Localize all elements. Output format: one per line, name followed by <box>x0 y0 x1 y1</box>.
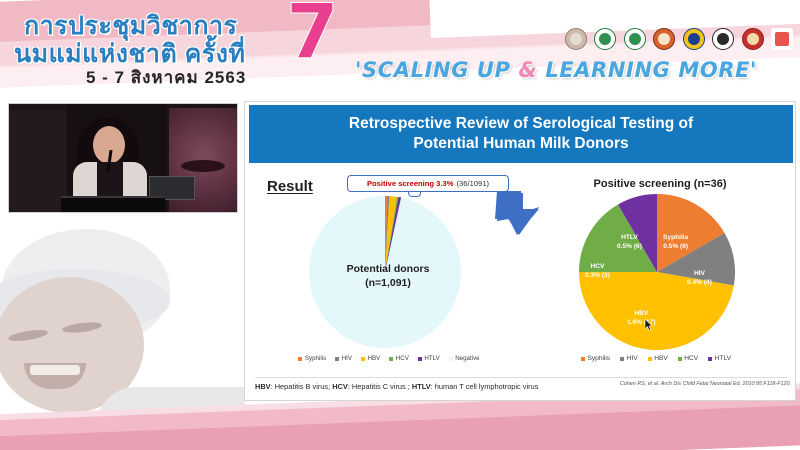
legend-label-hbv-right: HBV <box>654 355 668 362</box>
legend-label-htlv: HTLV <box>424 355 439 362</box>
blue-arrow-icon <box>493 187 545 241</box>
video-wall-panel-left <box>9 110 67 213</box>
slice-label-syphilis-name: Syphilis <box>663 234 688 243</box>
legend-swatch-hcv <box>389 357 393 361</box>
legend-item-hbv-right: HBV <box>648 355 668 362</box>
conference-date-thai: 5 - 7 สิงหาคม 2563 <box>86 64 246 91</box>
legend-potential-donors: Syphilis HIV HBV HCV HTLV Negative <box>271 355 507 362</box>
legend-item-htlv: HTLV <box>418 355 440 362</box>
slice-label-htlv: HTLV 0.5% (6) <box>617 234 642 251</box>
legend-label-hiv-right: HIV <box>627 355 638 362</box>
legend-label-syphilis: Syphilis <box>305 355 326 362</box>
logo-black-crest <box>712 28 734 50</box>
legend-swatch-hbv-right <box>648 357 652 361</box>
chart-positive-screening-title: Positive screening (n=36) <box>545 178 775 190</box>
result-heading: Result <box>267 178 313 195</box>
legend-swatch-negative <box>449 357 453 361</box>
legend-item-hcv: HCV <box>389 355 409 362</box>
logo-thai-royal-seal <box>565 28 587 50</box>
presentation-slide: Retrospective Review of Serological Test… <box>244 101 796 401</box>
footnote-hbv-key: HBV <box>255 382 271 391</box>
footnote-hbv-val: : Hepatitis B virus; <box>271 382 333 391</box>
child-teeth <box>30 365 80 375</box>
slide-title-line-1: Retrospective Review of Serological Test… <box>349 114 693 134</box>
legend-item-hiv-right: HIV <box>620 355 638 362</box>
slice-label-hcv-name: HCV <box>585 263 610 272</box>
chart-potential-donors: Potential donors (n=1,091) <box>273 196 503 348</box>
legend-label-hcv: HCV <box>396 355 409 362</box>
legend-swatch-syphilis <box>298 357 302 361</box>
legend-item-htlv-right: HTLV <box>708 355 731 362</box>
logo-green-medical-2 <box>624 28 646 50</box>
legend-swatch-syphilis-right <box>581 357 585 361</box>
legend-item-negative: Negative <box>449 355 480 362</box>
slice-label-hiv-value: 0.4% (4) <box>687 279 712 288</box>
footnote-hcv-val: : Hepatitis C virus ; <box>348 382 412 391</box>
footnote-htlv-key: HTLV <box>412 382 431 391</box>
slice-label-htlv-name: HTLV <box>617 234 642 243</box>
legend-swatch-hbv <box>361 357 365 361</box>
slice-label-hiv: HIV 0.4% (4) <box>687 270 712 287</box>
sponsor-logo-row <box>565 24 793 54</box>
tagline-part-1: 'SCALING UP <box>355 58 519 82</box>
conference-header-banner: การประชุมวิชาการ นมแม่แห่งชาติ ครั้งที่ … <box>0 0 800 95</box>
slice-label-hcv-value: 0.3% (3) <box>585 272 610 281</box>
legend-label-negative: Negative <box>455 355 479 362</box>
chart-positive-screening: Syphilis 0.5% (6) HIV 0.4% (4) HBV 1.6% … <box>571 194 747 350</box>
positive-screening-callout: Positive screening 3.3% (36/1091) <box>347 175 509 192</box>
slice-label-hiv-name: HIV <box>687 270 712 279</box>
legend-label-syphilis-right: Syphilis <box>587 355 610 362</box>
logo-orange-crest <box>653 28 675 50</box>
legend-swatch-hcv-right <box>678 357 682 361</box>
slide-title: Retrospective Review of Serological Test… <box>249 105 793 163</box>
conference-edition-number: 7 <box>286 0 339 70</box>
legend-positive-screening: Syphilis HIV HBV HCV HTLV <box>551 355 761 362</box>
legend-label-hcv-right: HCV <box>684 355 698 362</box>
logo-green-medical-1 <box>594 28 616 50</box>
legend-swatch-htlv-right <box>708 357 712 361</box>
legend-swatch-hiv-right <box>620 357 624 361</box>
slice-label-syphilis: Syphilis 0.5% (6) <box>663 234 688 251</box>
slice-label-syphilis-value: 0.5% (6) <box>663 243 688 252</box>
smiling-child-watermark <box>0 215 245 435</box>
source-citation: Cohen RS, et al. Arch Dis Child Fetal Ne… <box>620 381 791 387</box>
positive-screening-fraction: (36/1091) <box>457 179 490 188</box>
speaker-video-feed[interactable] <box>8 103 238 213</box>
pie-left-center-label: Potential donors (n=1,091) <box>273 262 503 290</box>
legend-label-hiv: HIV <box>342 355 352 362</box>
slice-label-htlv-value: 0.5% (6) <box>617 243 642 252</box>
legend-item-hbv: HBV <box>361 355 380 362</box>
legend-item-syphilis-right: Syphilis <box>581 355 610 362</box>
legend-swatch-hiv <box>335 357 339 361</box>
mouse-cursor-icon <box>645 318 654 330</box>
logo-red-crest <box>742 28 764 50</box>
tagline-part-2: LEARNING MORE' <box>537 58 757 82</box>
slice-label-hcv: HCV 0.3% (3) <box>585 263 610 280</box>
legend-item-syphilis: Syphilis <box>298 355 326 362</box>
screen: การประชุมวิชาการ นมแม่แห่งชาติ ครั้งที่ … <box>0 0 800 450</box>
pie-left-label-line-1: Potential donors <box>273 262 503 276</box>
positive-screening-percent: Positive screening 3.3% <box>367 179 454 188</box>
slide-title-line-2: Potential Human Milk Donors <box>413 134 628 154</box>
legend-label-htlv-right: HTLV <box>715 355 731 362</box>
abbreviation-key: HBV: Hepatitis B virus; HCV: Hepatitis C… <box>255 382 538 391</box>
footnote-htlv-val: : human T cell lymphotropic virus <box>431 382 539 391</box>
legend-label-hbv: HBV <box>368 355 381 362</box>
legend-swatch-htlv <box>418 357 422 361</box>
logo-ministry-crest <box>683 28 705 50</box>
pie-left-label-line-2: (n=1,091) <box>273 276 503 290</box>
legend-item-hiv: HIV <box>335 355 352 362</box>
logo-sss-thaihealth <box>771 28 793 50</box>
podium <box>61 196 165 213</box>
legend-item-hcv-right: HCV <box>678 355 698 362</box>
tagline-ampersand: & <box>519 58 538 82</box>
conference-tagline: 'SCALING UP & LEARNING MORE' <box>355 58 795 88</box>
footnote-hcv-key: HCV <box>332 382 348 391</box>
projected-eye <box>181 160 225 172</box>
